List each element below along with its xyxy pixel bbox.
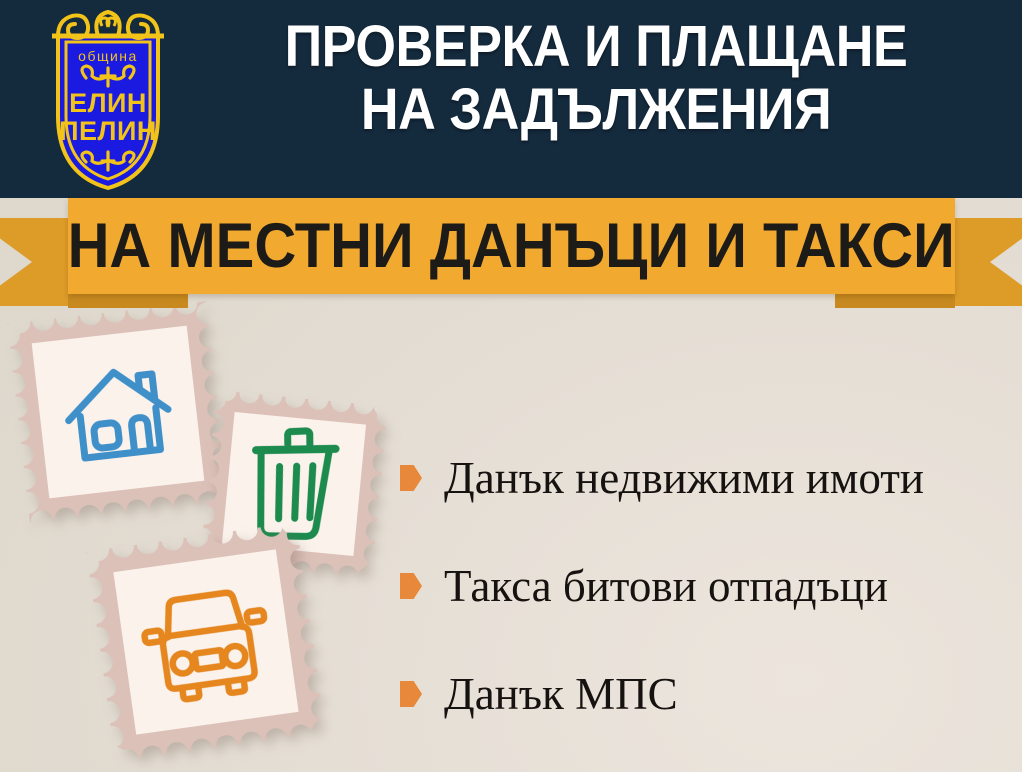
- list-item[interactable]: Данък недвижими имоти: [400, 424, 1010, 532]
- poster-canvas: община ЕЛИН ПЕЛИН ПРОВЕРКА И ПЛАЩАНЕ НА …: [0, 0, 1022, 772]
- stamp-card-property: [7, 301, 228, 522]
- page-title-line-1: ПРОВЕРКА И ПЛАЩАНЕ: [227, 16, 965, 79]
- svg-text:ПЕЛИН: ПЕЛИН: [59, 116, 157, 146]
- arrow-bullet-icon: [400, 681, 422, 707]
- ribbon-fold-left: [68, 292, 188, 308]
- arrow-bullet-icon: [400, 465, 422, 491]
- ribbon-fold-right: [835, 292, 955, 308]
- service-label: Данък МПС: [444, 672, 678, 717]
- municipality-crest: община ЕЛИН ПЕЛИН: [32, 6, 184, 194]
- list-item[interactable]: Такса битови отпадъци: [400, 532, 1010, 640]
- service-label: Такса битови отпадъци: [444, 564, 888, 609]
- page-title: ПРОВЕРКА И ПЛАЩАНЕ НА ЗАДЪЛЖЕНИЯ: [227, 16, 965, 141]
- stamp-card-vehicle: [86, 522, 325, 761]
- arrow-bullet-icon: [400, 573, 422, 599]
- ribbon-banner: НА МЕСТНИ ДАНЪЦИ И ТАКСИ: [0, 196, 1022, 318]
- ribbon-label: НА МЕСТНИ ДАНЪЦИ И ТАКСИ: [68, 215, 955, 278]
- services-list: Данък недвижими имоти Такса битови отпад…: [400, 424, 1010, 748]
- svg-text:ЕЛИН: ЕЛИН: [69, 88, 147, 118]
- ribbon-band: НА МЕСТНИ ДАНЪЦИ И ТАКСИ: [68, 198, 955, 294]
- svg-text:община: община: [78, 48, 138, 64]
- page-title-line-2: НА ЗАДЪЛЖЕНИЯ: [227, 79, 965, 142]
- list-item[interactable]: Данък МПС: [400, 640, 1010, 748]
- service-label: Данък недвижими имоти: [444, 456, 924, 501]
